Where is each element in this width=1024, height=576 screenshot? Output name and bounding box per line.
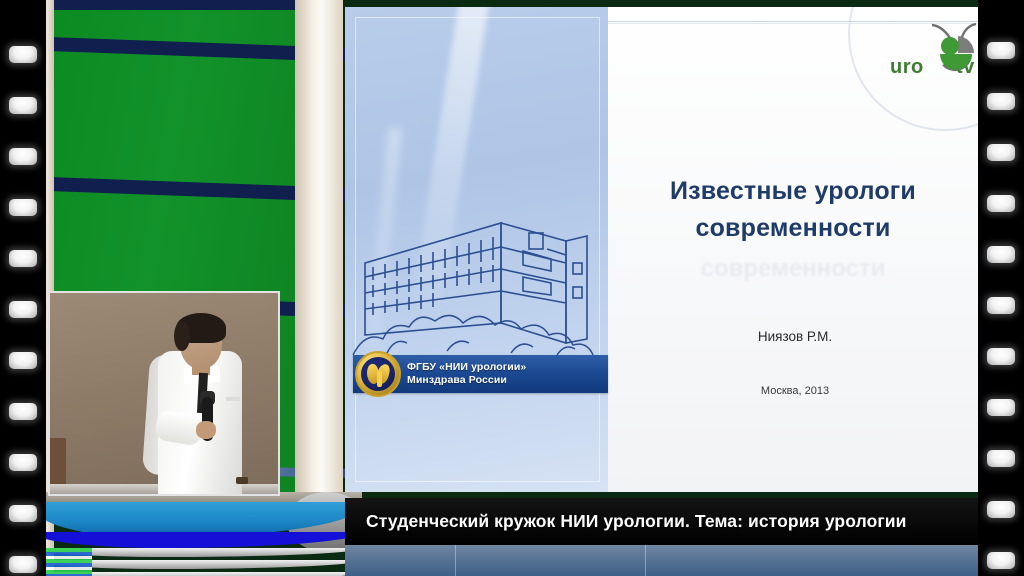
news-desk [42, 492, 362, 576]
slide-title: Известные урологи современности [623, 173, 963, 247]
coat-pocket [226, 397, 240, 401]
film-perforation [987, 42, 1015, 59]
logo-text-uro: uro [890, 56, 924, 79]
film-perforation [9, 301, 37, 318]
film-perforation [987, 93, 1015, 110]
institute-banner: ФГБУ «НИИ урологии» Минздрава России [353, 355, 608, 393]
film-perforation [987, 144, 1015, 161]
caption-text: Студенческий кружок НИИ урологии. Тема: … [366, 511, 906, 532]
caption-bar: Студенческий кружок НИИ урологии. Тема: … [345, 498, 982, 545]
film-perforation [987, 450, 1015, 467]
uro-tv-logo: uro tv [890, 22, 986, 78]
slide-title-line2: современности [623, 210, 963, 247]
film-perforation [9, 505, 37, 522]
film-perforation [987, 399, 1015, 416]
speaker-hair-side [174, 321, 190, 351]
lower-blue-band [345, 545, 982, 576]
band-seam [455, 545, 456, 576]
film-perforation [987, 297, 1015, 314]
film-perforation [9, 199, 37, 216]
institute-name-text: ФГБУ «НИИ урологии» Минздрава России [407, 361, 526, 387]
emblem-inner-disc [361, 357, 395, 391]
slide-place-year: Москва, 2013 [645, 385, 945, 397]
video-frame: ФГБУ «НИИ урологии» Минздрава России Изв… [0, 0, 1024, 576]
room-door [50, 438, 66, 484]
institute-name-line1: ФГБУ «НИИ урологии» [407, 361, 526, 374]
film-perforation [9, 148, 37, 165]
band-seam [645, 545, 646, 576]
film-strip-left [0, 0, 46, 576]
studio-pillar [295, 0, 343, 500]
film-perforation [987, 246, 1015, 263]
desk-light-strip [42, 548, 92, 576]
film-perforation [9, 454, 37, 471]
film-perforation [987, 195, 1015, 212]
film-perforation [9, 46, 37, 63]
slide-content-area [608, 7, 982, 492]
film-perforation [987, 501, 1015, 518]
film-perforation [9, 250, 37, 267]
beetle-mark-icon [924, 22, 986, 78]
film-perforation [9, 97, 37, 114]
film-perforation [987, 348, 1015, 365]
slide-title-line1: Известные урологи [623, 173, 963, 210]
speaker-hand [196, 421, 216, 439]
wrist-watch [236, 477, 248, 484]
speaker-inset-video[interactable] [48, 291, 280, 496]
kidney-emblem-icon [355, 351, 401, 397]
slide-author: Ниязов Р.М. [645, 329, 945, 344]
presentation-slide: ФГБУ «НИИ урологии» Минздрава России Изв… [345, 7, 982, 492]
slide-title-ghost: современности [623, 255, 963, 283]
film-perforation [987, 552, 1015, 569]
institute-building-illustration [351, 203, 606, 373]
film-perforation [9, 352, 37, 369]
film-perforation [9, 556, 37, 573]
film-strip-right [978, 0, 1024, 576]
film-perforation [9, 403, 37, 420]
institute-name-line2: Минздрава России [407, 374, 526, 387]
emblem-stem [377, 371, 382, 387]
